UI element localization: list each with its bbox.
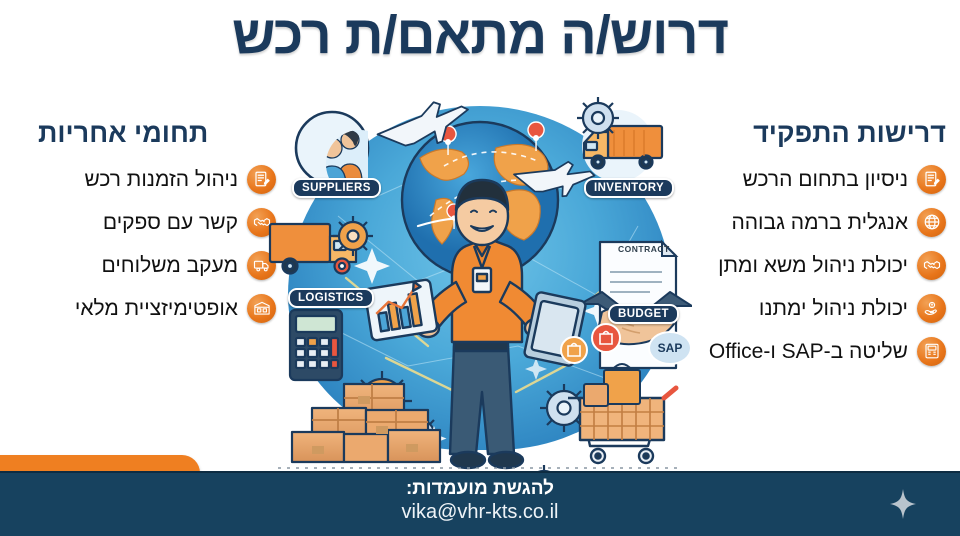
footer-contact-block: להגשת מועמדות: vika@vhr-kts.co.il: [0, 478, 960, 525]
list-item-label: יכולת ניהול משא ומתן: [718, 255, 908, 276]
list-item-label: ניהול הזמנות רכש: [84, 169, 238, 190]
list-item: ניהול הזמנות רכש: [18, 162, 276, 196]
list-item-label: שליטה ב-SAP ו-Office: [709, 341, 908, 362]
computer-icon: [917, 337, 946, 366]
list-item: שליטה ב-SAP ו-Office: [686, 334, 946, 368]
contract-doc-label: CONTRACT: [618, 244, 670, 254]
list-item: קשר עם ספקים: [18, 205, 276, 239]
procurement-illustration: CONTRACT SAP SUPPLIERS INVENTORY LOGISTI…: [268, 96, 692, 478]
list-item: אנגלית ברמה גבוהה: [686, 205, 946, 239]
list-item: יכולת ניהול משא ומתן: [686, 248, 946, 282]
list-item: יכולת ניהול ימתנו: [686, 291, 946, 325]
badge-budget: BUDGET: [608, 304, 679, 324]
list-item-label: יכולת ניהול ימתנו: [759, 298, 908, 319]
hand-coin-icon: [917, 294, 946, 323]
infographic-canvas: דרוש/ה מתאם/ת רכש דרישות התפקיד ניסיון ב…: [0, 0, 960, 536]
list-item-label: ניסיון בתחום הרכש: [743, 169, 908, 190]
responsibilities-list: ניהול הזמנות רכש קשר עם ספקים: [18, 162, 276, 334]
responsibilities-heading: תחומי אחריות: [38, 118, 208, 149]
footer-bar: להגשת מועמדות: vika@vhr-kts.co.il: [0, 471, 960, 536]
list-item: ניסיון בתחום הרכש: [686, 162, 946, 196]
list-item: אופטימיזציית מלאי: [18, 291, 276, 325]
requirements-list: ניסיון בתחום הרכש אנגלית ברמה גבוהה: [686, 162, 946, 377]
badge-logistics: LOGISTICS: [288, 288, 374, 308]
list-item-label: קשר עם ספקים: [103, 212, 238, 233]
page-title: דרוש/ה מתאם/ת רכש: [0, 4, 960, 66]
handshake-icon: [917, 251, 946, 280]
badge-inventory: INVENTORY: [584, 178, 674, 198]
list-item: מעקב משלוחים: [18, 248, 276, 282]
list-item-label: מעקב משלוחים: [102, 255, 238, 276]
badge-suppliers: SUPPLIERS: [292, 178, 381, 198]
sparkle-icon: [890, 489, 916, 519]
apply-email[interactable]: vika@vhr-kts.co.il: [0, 500, 960, 525]
sap-chip: SAP: [648, 331, 692, 365]
clipboard-pen-icon: [917, 165, 946, 194]
list-item-label: אופטימיזציית מלאי: [75, 298, 238, 319]
globe-icon: [917, 208, 946, 237]
illustration-artwork: [268, 96, 692, 478]
list-item-label: אנגלית ברמה גבוהה: [731, 212, 908, 233]
requirements-heading: דרישות התפקיד: [753, 118, 946, 149]
apply-label: להגשת מועמדות:: [0, 478, 960, 500]
